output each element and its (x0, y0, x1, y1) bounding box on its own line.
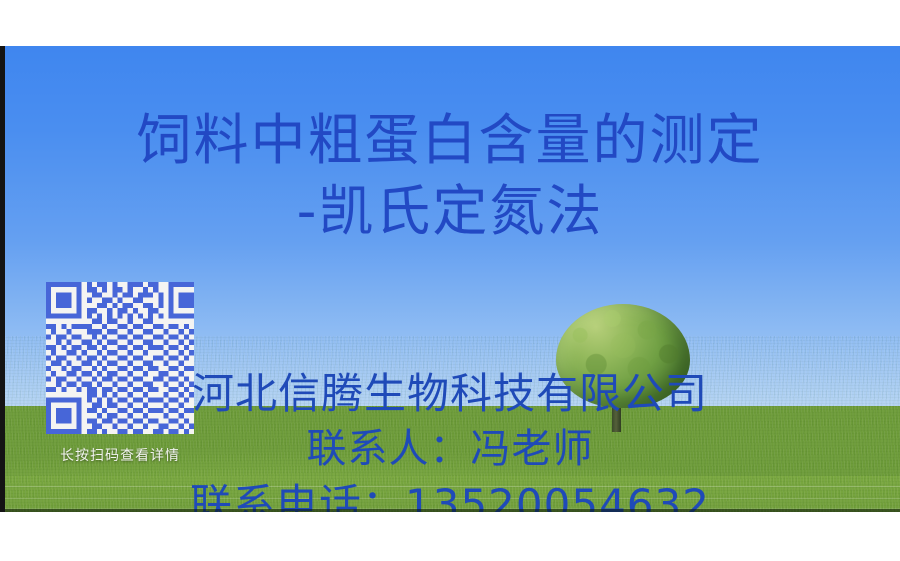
video-page: 饲料中粗蛋白含量的测定 -凯氏定氮法 长按扫码查看详情 河北信腾生物科技有限公司… (0, 0, 900, 561)
meadow-seam-line (0, 498, 900, 499)
hill-base (0, 476, 900, 512)
tree-canopy (556, 304, 690, 408)
video-left-bezel (0, 46, 5, 512)
qr-caption: 长按扫码查看详情 (46, 445, 194, 465)
qr-code-block[interactable]: 长按扫码查看详情 (46, 282, 194, 465)
qr-code[interactable] (46, 282, 194, 434)
video-surface[interactable]: 饲料中粗蛋白含量的测定 -凯氏定氮法 长按扫码查看详情 河北信腾生物科技有限公司… (0, 46, 900, 512)
video-bottom-edge (0, 509, 900, 512)
meadow-seam-line (0, 486, 900, 487)
qr-code-canvas[interactable] (46, 282, 194, 434)
tree-icon (548, 304, 698, 434)
